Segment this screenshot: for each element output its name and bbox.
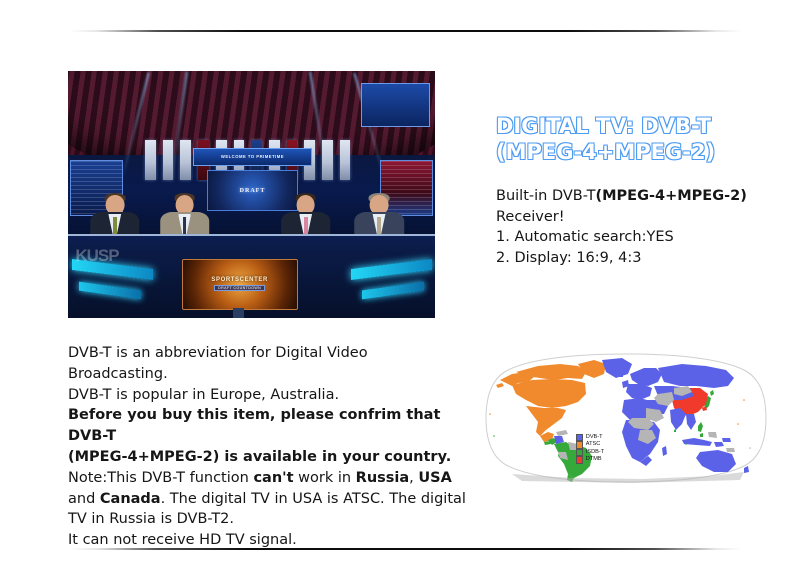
note-mid-2: ,: [409, 470, 418, 486]
legend-item-dvbt: DVB-T: [576, 434, 604, 441]
legend-swatch-atsc: [576, 441, 583, 448]
photo-watermark: KUSP: [75, 246, 118, 266]
note-canada: Canada: [100, 491, 161, 507]
page-title: DIGITAL TV: DVB-T (MPEG-4+MPEG-2): [496, 113, 756, 165]
legend-label-atsc: ATSC: [586, 441, 601, 448]
corner-video-screen: [361, 83, 429, 127]
blurb-note: Note:This DVB-T function can't work in R…: [68, 468, 468, 530]
world-map-svg: [482, 352, 770, 484]
page-title-line-2: (MPEG-4+MPEG-2): [496, 139, 756, 165]
note-russia: Russia: [356, 470, 410, 486]
blurb-line-1: DVB-T is an abbreviation for Digital Vid…: [68, 343, 468, 385]
top-divider: [70, 30, 742, 32]
spec-item-2: 2. Display: 16:9, 4:3: [496, 248, 776, 269]
legend-item-atsc: ATSC: [576, 441, 604, 448]
legend-swatch-isdbt: [576, 449, 583, 456]
note-usa: USA: [418, 470, 451, 486]
description-text: DVB-T is an abbreviation for Digital Vid…: [68, 343, 468, 551]
bottom-divider: [70, 548, 742, 550]
blurb-warning-line-1: Before you buy this item, please confrim…: [68, 405, 468, 447]
draft-logo-text: DRAFT: [240, 188, 266, 194]
spec-receiver-line: Built-in DVB-T(MPEG-4+MPEG-2): [496, 186, 776, 207]
spec-list: Built-in DVB-T(MPEG-4+MPEG-2) Receiver! …: [496, 186, 776, 268]
legend-swatch-dvbt: [576, 434, 583, 441]
tv-studio-photo: WELCOME TO PRIMETIME DRAFT: [68, 71, 435, 318]
monitor-stand: [233, 308, 244, 318]
map-legend: DVB-T ATSC ISDB-T DTMB: [576, 434, 604, 464]
spec-receiver-suffix: Receiver!: [496, 207, 776, 228]
note-mid-3: and: [68, 491, 100, 507]
spec-item-1: 1. Automatic search:YES: [496, 227, 776, 248]
blurb-warning-line-2: (MPEG-4+MPEG-2) is available in your cou…: [68, 447, 468, 468]
note-cant: can't: [253, 470, 293, 486]
blurb-line-2: DVB-T is popular in Europe, Australia.: [68, 385, 468, 406]
legend-label-dvbt: DVB-T: [586, 434, 603, 441]
note-mid-1: work in: [294, 470, 356, 486]
draft-countdown-label: DRAFT COUNTDOWN: [214, 285, 265, 291]
legend-item-isdbt: ISDB-T: [576, 449, 604, 456]
spec-receiver-prefix: Built-in DVB-T: [496, 188, 595, 204]
legend-label-isdbt: ISDB-T: [586, 449, 604, 456]
legend-label-dtmb: DTMB: [586, 456, 602, 463]
product-description-page: WELCOME TO PRIMETIME DRAFT: [0, 0, 800, 581]
legend-item-dtmb: DTMB: [576, 456, 604, 463]
page-title-line-1: DIGITAL TV: DVB-T: [496, 114, 711, 138]
dtt-standards-world-map: DVB-T ATSC ISDB-T DTMB: [482, 352, 770, 484]
legend-swatch-dtmb: [576, 456, 583, 463]
sportscenter-monitor: SPORTSCENTER DRAFT COUNTDOWN: [182, 259, 298, 310]
sportscenter-title: SPORTSCENTER: [211, 277, 268, 283]
note-prefix: Note:This DVB-T function: [68, 470, 253, 486]
spec-receiver-codecs: (MPEG-4+MPEG-2): [595, 188, 746, 204]
welcome-to-primetime-sign: WELCOME TO PRIMETIME: [193, 148, 312, 166]
